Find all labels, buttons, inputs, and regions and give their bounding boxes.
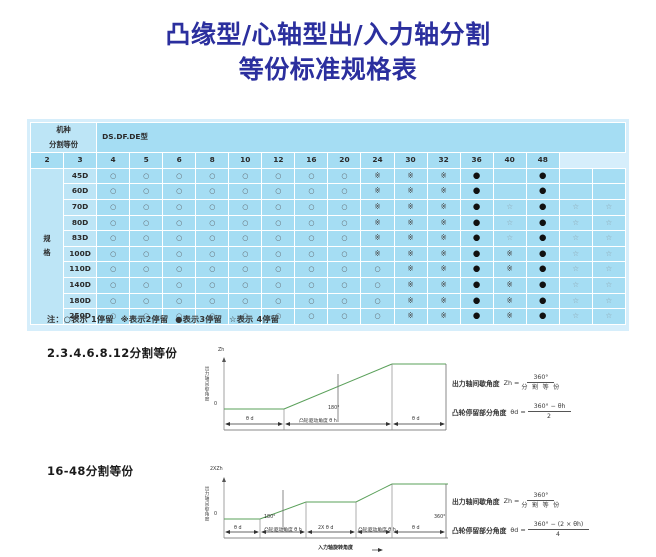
symbol-icon: ○ (275, 234, 281, 242)
symbol-icon: ○ (242, 281, 248, 289)
cell-80D-3: ○ (130, 215, 163, 231)
cell-110D-3: ○ (130, 262, 163, 278)
cell-180D-48: ☆ (592, 293, 625, 309)
symbol-icon: ☆ (506, 233, 513, 242)
formula-1-2-var: θd = (510, 408, 525, 416)
cell-83D-48: ☆ (592, 231, 625, 247)
y-top-label-2: 2XZh (210, 467, 223, 472)
formula-1-2-fraction: 360° − θh 2 (528, 403, 572, 420)
symbol-icon: ○ (308, 265, 314, 273)
symbol-icon: ○ (209, 281, 215, 289)
table-corner-label: 机种分割等份 (31, 123, 97, 153)
cell-60D-16: ※ (361, 184, 394, 200)
symbol-icon: ※ (507, 249, 513, 258)
page-root: 凸缘型/心轴型出/入力轴分割 等份标准规格表 机种分割等份DS.DF.DE型23… (0, 0, 656, 557)
symbol-icon: ※ (407, 280, 413, 289)
y-axis-title-2: 出力轴间歇角度 (203, 486, 209, 522)
cell-70D-16: ※ (361, 199, 394, 215)
symbol-icon: ○ (242, 234, 248, 242)
cell-60D-20: ※ (394, 184, 427, 200)
cell-110D-48: ☆ (592, 262, 625, 278)
formula-2-2: 凸轮停留部分角度 θd = 360° − (2 × θh) 4 (452, 521, 589, 538)
section-2-formulas: 出力轴间歇角度 Zh = 360° 分 割 等 份 凸轮停留部分角度 θd = … (452, 492, 589, 551)
symbol-icon: ○ (341, 250, 347, 258)
legend-item-2: ●表示3停留 (175, 314, 222, 324)
symbol-icon: ※ (440, 218, 446, 227)
symbol-icon: ○ (110, 250, 116, 258)
segment-label-2c: θ d (412, 526, 420, 531)
symbol-icon: ☆ (606, 280, 613, 289)
symbol-icon: ○ (110, 234, 116, 242)
cell-60D-24: ※ (427, 184, 460, 200)
symbol-icon: ○ (308, 203, 314, 211)
symbol-icon: ● (473, 280, 480, 290)
cell-45D-10: ○ (295, 168, 328, 184)
formula-2-1: 出力轴间歇角度 Zh = 360° 分 割 等 份 (452, 492, 589, 509)
cell-100D-5: ○ (196, 246, 229, 262)
symbol-icon: ○ (209, 172, 215, 180)
symbol-icon: ○ (110, 172, 116, 180)
cell-180D-3: ○ (130, 293, 163, 309)
cell-45D-16: ※ (361, 168, 394, 184)
symbol-icon: ○ (176, 187, 182, 195)
symbol-icon: ○ (308, 234, 314, 242)
symbol-icon: ○ (209, 234, 215, 242)
curve-staircase-2 (224, 484, 448, 519)
legend-item-3: ☆表示 4停留 (229, 314, 279, 324)
cell-80D-4: ○ (163, 215, 196, 231)
symbol-icon: ○ (143, 172, 149, 180)
cell-100D-48: ☆ (592, 246, 625, 262)
cell-83D-32: ☆ (493, 231, 526, 247)
symbol-icon: ☆ (606, 202, 613, 211)
cell-140D-6: ○ (229, 277, 262, 293)
symbol-icon: ○ (143, 297, 149, 305)
page-title: 凸缘型/心轴型出/入力轴分割 等份标准规格表 (0, 18, 656, 87)
corner-label-line-1: 机种 (31, 123, 96, 138)
symbol-icon: ○ (275, 187, 281, 195)
legend-note: 注：○表示 1停留※表示2停留●表示3停留☆表示 4停留 (47, 313, 286, 325)
formula-2-1-numerator: 360° (527, 492, 554, 501)
cell-180D-6: ○ (229, 293, 262, 309)
cell-45D-24: ※ (427, 168, 460, 184)
symbol-icon: ☆ (572, 264, 579, 273)
symbol-icon: ○ (242, 250, 248, 258)
cell-140D-10: ○ (295, 277, 328, 293)
symbol-icon: ○ (308, 172, 314, 180)
symbol-icon: ☆ (606, 311, 613, 320)
symbol-icon: ○ (209, 187, 215, 195)
cell-110D-5: ○ (196, 262, 229, 278)
column-header-5: 5 (130, 153, 163, 169)
cell-80D-20: ※ (394, 215, 427, 231)
formula-2-2-denominator: 4 (556, 530, 561, 538)
column-header-40: 40 (493, 153, 526, 169)
cell-83D-6: ○ (229, 231, 262, 247)
cell-110D-30: ● (460, 262, 493, 278)
y-zero-label-1: 0 (214, 402, 217, 407)
symbol-icon: ○ (374, 297, 380, 305)
column-header-8: 8 (196, 153, 229, 169)
symbol-icon: ○ (341, 281, 347, 289)
y-top-label-1: Zh (218, 348, 224, 353)
symbol-icon: ○ (209, 203, 215, 211)
cam-drive-label-2b: 凸轮驱动角度 θ h (358, 526, 396, 533)
cell-180D-32: ※ (493, 293, 526, 309)
cell-110D-6: ○ (229, 262, 262, 278)
cell-100D-6: ○ (229, 246, 262, 262)
symbol-icon: ※ (440, 171, 446, 180)
symbol-icon: ○ (308, 281, 314, 289)
symbol-icon: ○ (176, 265, 182, 273)
cell-80D-40: ☆ (559, 215, 592, 231)
corner-label-line-2: 分割等份 (31, 138, 96, 153)
table-row: 140D○○○○○○○○○※※●※●☆☆ (31, 277, 626, 293)
symbol-icon: ※ (440, 264, 446, 273)
y-axis-title-1: 出力轴间歇角度 (203, 366, 209, 402)
symbol-icon: ○ (242, 265, 248, 273)
symbol-icon: ● (473, 249, 480, 259)
cell-45D-32 (493, 168, 526, 184)
column-header-20: 20 (328, 153, 361, 169)
symbol-icon: ☆ (572, 311, 579, 320)
cell-80D-16: ※ (361, 215, 394, 231)
symbol-icon: ○ (275, 250, 281, 258)
symbol-icon: ○ (242, 187, 248, 195)
symbol-icon: ○ (209, 297, 215, 305)
cell-70D-5: ○ (196, 199, 229, 215)
symbol-icon: ○ (275, 219, 281, 227)
symbol-icon: ● (473, 296, 480, 306)
cell-60D-3: ○ (130, 184, 163, 200)
symbol-icon: ○ (341, 312, 347, 320)
cell-100D-8: ○ (262, 246, 295, 262)
symbol-icon: ※ (440, 311, 446, 320)
column-header-12: 12 (262, 153, 295, 169)
cell-60D-10: ○ (295, 184, 328, 200)
table-row: 110D○○○○○○○○○※※●※●☆☆ (31, 262, 626, 278)
section-2-diagram: 2XZh 0 出力轴间歇角度 θ d 180° 凸轮驱动角度 θ h 2X θ … (196, 470, 456, 556)
cell-180D-40: ☆ (559, 293, 592, 309)
symbol-icon: ○ (110, 219, 116, 227)
cell-45D-5: ○ (196, 168, 229, 184)
column-header-32: 32 (427, 153, 460, 169)
cell-100D-4: ○ (163, 246, 196, 262)
tick-360-label-2: 360° (434, 515, 446, 520)
symbol-icon: ● (473, 311, 480, 321)
legend-symbol-icon: ☆ (229, 314, 237, 324)
symbol-icon: ○ (242, 203, 248, 211)
diagram-1-svg (196, 352, 456, 450)
symbol-icon: ☆ (606, 233, 613, 242)
symbol-icon: ○ (176, 172, 182, 180)
cell-60D-32 (493, 184, 526, 200)
cell-100D-3: ○ (130, 246, 163, 262)
section-1-diagram: Zh 0 出力轴间歇角度 θ d 180° 凸轮驱动角度 θ h θ d (196, 352, 456, 450)
cell-100D-30: ● (460, 246, 493, 262)
formula-1-2-label: 凸轮停留部分角度 (452, 407, 506, 417)
table-row: 70D○○○○○○○○※※※●☆●☆☆ (31, 199, 626, 215)
symbol-icon: ● (539, 218, 546, 228)
segment-label-1c: θ d (412, 417, 420, 422)
symbol-icon: ○ (374, 281, 380, 289)
cell-180D-24: ※ (427, 293, 460, 309)
symbol-icon: ※ (407, 249, 413, 258)
formula-2-2-label: 凸轮停留部分角度 (452, 525, 506, 535)
cell-45D-12: ○ (328, 168, 361, 184)
symbol-icon: ※ (374, 218, 380, 227)
cell-180D-16: ○ (361, 293, 394, 309)
cell-70D-2: ○ (97, 199, 130, 215)
symbol-icon: ☆ (606, 249, 613, 258)
formula-1-1-label: 出力轴间歇角度 (452, 378, 500, 388)
symbol-icon: ● (539, 233, 546, 243)
cell-250D-30: ● (460, 309, 493, 325)
symbol-icon: ☆ (572, 296, 579, 305)
symbol-icon: ● (539, 186, 546, 196)
cell-250D-16: ○ (361, 309, 394, 325)
symbol-icon: ○ (143, 281, 149, 289)
symbol-icon: ○ (110, 265, 116, 273)
symbol-icon: ○ (341, 234, 347, 242)
cell-70D-4: ○ (163, 199, 196, 215)
cell-60D-5: ○ (196, 184, 229, 200)
cell-250D-36: ● (526, 309, 559, 325)
symbol-icon: ※ (407, 186, 413, 195)
cell-83D-10: ○ (295, 231, 328, 247)
symbol-icon: ○ (242, 219, 248, 227)
side-label-line-1: 规 (31, 232, 63, 247)
cam-drive-label-2a: 凸轮驱动角度 θ h (264, 526, 302, 533)
symbol-icon: ○ (110, 187, 116, 195)
cell-250D-12: ○ (328, 309, 361, 325)
symbol-icon: ● (473, 171, 480, 181)
cell-83D-5: ○ (196, 231, 229, 247)
legend-symbol-icon: ※ (121, 314, 129, 324)
legend-item-0: ○表示 1停留 (64, 314, 114, 324)
y-axis-arrow-2 (222, 477, 226, 482)
cell-80D-12: ○ (328, 215, 361, 231)
cell-250D-32: ※ (493, 309, 526, 325)
cell-180D-12: ○ (328, 293, 361, 309)
model-cell-110D: 110D (64, 262, 97, 278)
section-1-title: 2.3.4.6.8.12分割等份 (47, 345, 177, 361)
legend-text: 表示2停留 (129, 314, 168, 324)
cell-140D-3: ○ (130, 277, 163, 293)
symbol-icon: ※ (407, 171, 413, 180)
formula-1-1-denominator: 分 割 等 份 (521, 383, 560, 391)
cell-100D-20: ※ (394, 246, 427, 262)
model-cell-140D: 140D (64, 277, 97, 293)
cell-45D-3: ○ (130, 168, 163, 184)
cell-110D-8: ○ (262, 262, 295, 278)
column-header-30: 30 (394, 153, 427, 169)
symbol-icon: ○ (275, 297, 281, 305)
page-title-line-1: 凸缘型/心轴型出/入力轴分割 (0, 18, 656, 53)
column-header-16: 16 (295, 153, 328, 169)
cell-83D-16: ※ (361, 231, 394, 247)
cell-100D-40: ☆ (559, 246, 592, 262)
cell-83D-36: ● (526, 231, 559, 247)
cell-110D-36: ● (526, 262, 559, 278)
cell-80D-48: ☆ (592, 215, 625, 231)
symbol-icon: ● (473, 218, 480, 228)
legend-prefix: 注： (47, 314, 64, 324)
cell-70D-20: ※ (394, 199, 427, 215)
cell-140D-5: ○ (196, 277, 229, 293)
cell-180D-4: ○ (163, 293, 196, 309)
cell-45D-30: ● (460, 168, 493, 184)
segment-label-1a: θ d (246, 417, 254, 422)
cell-70D-10: ○ (295, 199, 328, 215)
symbol-icon: ○ (143, 187, 149, 195)
symbol-icon: ○ (308, 250, 314, 258)
section-2-title: 16-48分割等份 (47, 463, 133, 479)
symbol-icon: ※ (407, 202, 413, 211)
cell-140D-40: ☆ (559, 277, 592, 293)
cell-250D-40: ☆ (559, 309, 592, 325)
symbol-icon: ○ (341, 265, 347, 273)
cell-100D-10: ○ (295, 246, 328, 262)
cell-140D-12: ○ (328, 277, 361, 293)
symbol-icon: ○ (341, 203, 347, 211)
cell-70D-48: ☆ (592, 199, 625, 215)
cell-100D-16: ※ (361, 246, 394, 262)
legend-text: 表示 1停留 (71, 314, 114, 324)
model-cell-83D: 83D (64, 231, 97, 247)
symbol-icon: ○ (110, 281, 116, 289)
side-label-line-2: 格 (31, 246, 63, 261)
cell-83D-12: ○ (328, 231, 361, 247)
cell-100D-24: ※ (427, 246, 460, 262)
symbol-icon: ● (539, 249, 546, 259)
symbol-icon: ※ (440, 296, 446, 305)
table-row: 规格45D○○○○○○○○※※※●● (31, 168, 626, 184)
cell-140D-20: ※ (394, 277, 427, 293)
formula-2-2-var: θd = (510, 526, 525, 534)
legend-item-1: ※表示2停留 (121, 314, 169, 324)
symbol-icon: ○ (308, 312, 314, 320)
tick-180-label-1: 180° (328, 406, 340, 411)
symbol-icon: ※ (407, 233, 413, 242)
cell-60D-48 (592, 184, 625, 200)
cell-80D-36: ● (526, 215, 559, 231)
formula-2-1-label: 出力轴间歇角度 (452, 496, 500, 506)
formula-2-2-fraction: 360° − (2 × θh) 4 (528, 521, 590, 538)
cam-drive-label-1: 凸轮驱动角度 θ h (299, 417, 337, 424)
symbol-icon: ○ (275, 203, 281, 211)
column-header-36: 36 (460, 153, 493, 169)
cell-80D-32: ☆ (493, 215, 526, 231)
cell-70D-12: ○ (328, 199, 361, 215)
x-axis-title-2: 入力轴旋转角度 (318, 544, 353, 551)
symbol-icon: ● (539, 296, 546, 306)
cell-83D-3: ○ (130, 231, 163, 247)
spec-table: 机种分割等份DS.DF.DE型2345681012162024303236404… (30, 122, 626, 325)
tick-180-label-2: 180° (264, 515, 276, 520)
symbol-icon: ○ (308, 187, 314, 195)
cell-100D-36: ● (526, 246, 559, 262)
cell-110D-40: ☆ (559, 262, 592, 278)
page-title-line-2: 等份标准规格表 (0, 53, 656, 88)
table-side-label: 规格 (31, 168, 64, 324)
cell-140D-30: ● (460, 277, 493, 293)
symbol-icon: ※ (440, 280, 446, 289)
table-row: 60D○○○○○○○○※※※●● (31, 184, 626, 200)
cell-140D-24: ※ (427, 277, 460, 293)
symbol-icon: ○ (341, 297, 347, 305)
column-header-2: 2 (31, 153, 64, 169)
cell-250D-24: ※ (427, 309, 460, 325)
cell-45D-6: ○ (229, 168, 262, 184)
symbol-icon: ※ (507, 280, 513, 289)
symbol-icon: ※ (440, 186, 446, 195)
x-axis-arrow-head-2 (378, 548, 383, 552)
symbol-icon: ※ (374, 202, 380, 211)
model-cell-100D: 100D (64, 246, 97, 262)
legend-text: 表示3停留 (183, 314, 222, 324)
symbol-icon: ※ (407, 311, 413, 320)
cell-70D-8: ○ (262, 199, 295, 215)
segment-label-2a: θ d (234, 526, 242, 531)
symbol-icon: ☆ (572, 202, 579, 211)
cell-140D-32: ※ (493, 277, 526, 293)
spec-table-container: 机种分割等份DS.DF.DE型2345681012162024303236404… (27, 119, 629, 331)
y-axis-arrow-1 (222, 357, 226, 362)
symbol-icon: ○ (209, 250, 215, 258)
cell-140D-2: ○ (97, 277, 130, 293)
column-header-10: 10 (229, 153, 262, 169)
formula-1-1: 出力轴间歇角度 Zh = 360° 分 割 等 份 (452, 374, 571, 391)
symbol-icon: ○ (341, 187, 347, 195)
cell-83D-20: ※ (394, 231, 427, 247)
cell-45D-36: ● (526, 168, 559, 184)
cell-180D-8: ○ (262, 293, 295, 309)
table-row: 180D○○○○○○○○○※※●※●☆☆ (31, 293, 626, 309)
cell-70D-24: ※ (427, 199, 460, 215)
symbol-icon: ※ (407, 218, 413, 227)
symbol-icon: ● (539, 280, 546, 290)
symbol-icon: ○ (176, 250, 182, 258)
cell-100D-12: ○ (328, 246, 361, 262)
cell-70D-32: ☆ (493, 199, 526, 215)
cell-180D-30: ● (460, 293, 493, 309)
cell-60D-2: ○ (97, 184, 130, 200)
cell-60D-6: ○ (229, 184, 262, 200)
y-zero-label-2: 0 (214, 512, 217, 517)
cell-60D-40 (559, 184, 592, 200)
symbol-icon: ○ (176, 203, 182, 211)
cell-80D-6: ○ (229, 215, 262, 231)
cell-110D-32: ※ (493, 262, 526, 278)
cell-80D-8: ○ (262, 215, 295, 231)
column-header-3: 3 (64, 153, 97, 169)
symbol-icon: ※ (507, 311, 513, 320)
cell-110D-4: ○ (163, 262, 196, 278)
formula-2-1-var: Zh = (504, 497, 520, 505)
cell-110D-2: ○ (97, 262, 130, 278)
column-header-48: 48 (526, 153, 559, 169)
cell-70D-3: ○ (130, 199, 163, 215)
cell-45D-48 (592, 168, 625, 184)
table-row: 80D○○○○○○○○※※※●☆●☆☆ (31, 215, 626, 231)
symbol-icon: ○ (110, 297, 116, 305)
cell-45D-40 (559, 168, 592, 184)
symbol-icon: ○ (374, 265, 380, 273)
cell-60D-36: ● (526, 184, 559, 200)
cell-140D-16: ○ (361, 277, 394, 293)
symbol-icon: ● (539, 311, 546, 321)
